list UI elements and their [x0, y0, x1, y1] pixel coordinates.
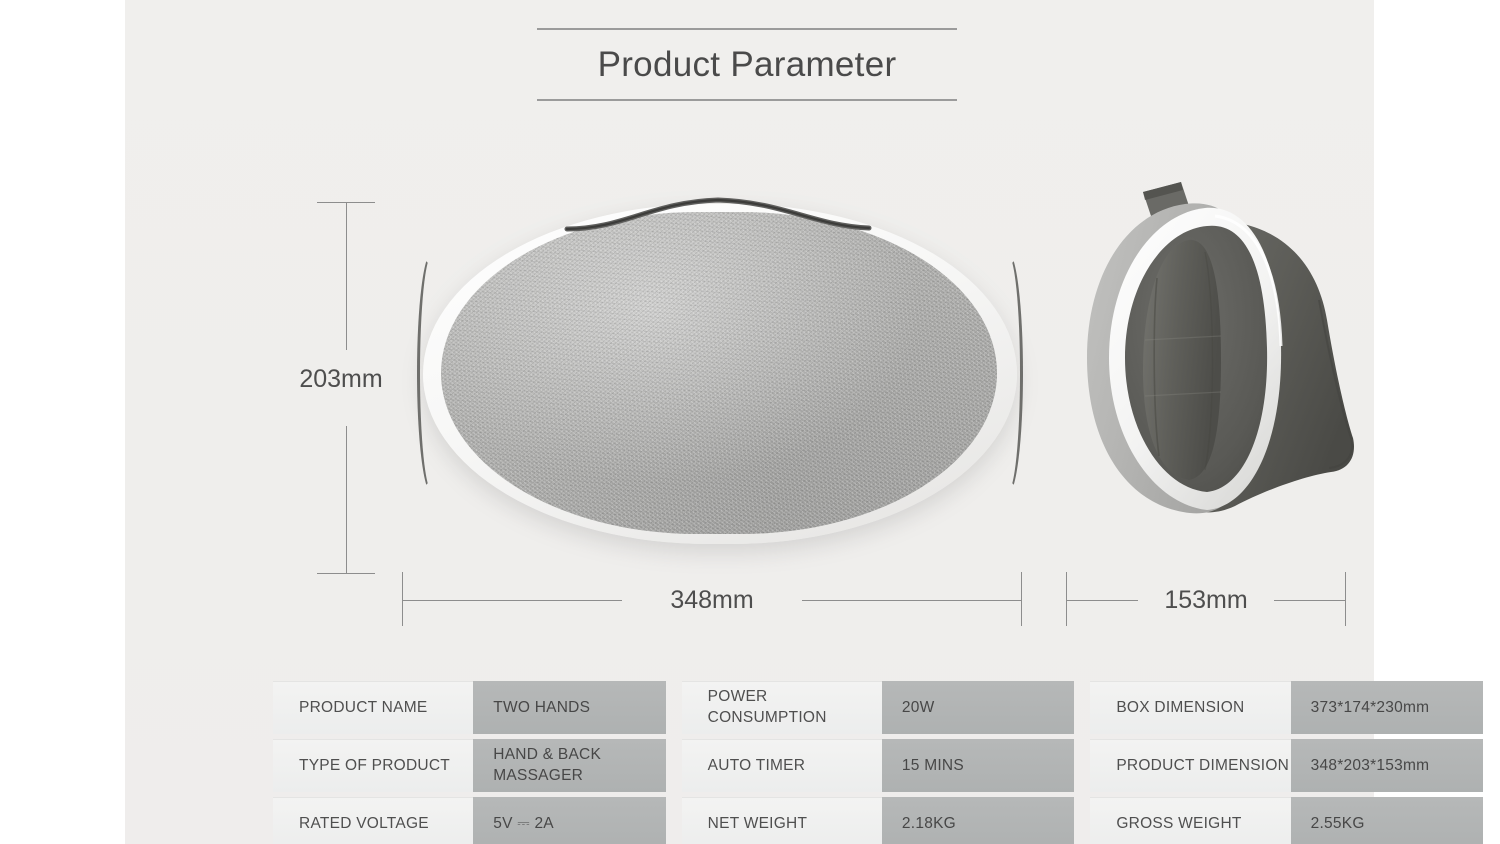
spec-value: 2.18KG [882, 797, 1074, 844]
dim-segment-lower [346, 426, 347, 574]
handle-strap-icon [563, 196, 873, 234]
handle-strap [563, 196, 873, 234]
spec-label: RATED VOLTAGE [273, 797, 473, 844]
title-rule-bottom [537, 99, 957, 101]
spec-value: 2.55KG [1291, 797, 1483, 844]
spec-group-2: POWER CONSUMPTION 20W AUTO TIMER 15 MINS… [682, 681, 1075, 844]
spec-label: GROSS WEIGHT [1090, 797, 1290, 844]
dim-cap-right [1345, 572, 1346, 626]
spec-value: 20W [882, 681, 1074, 734]
spec-label: AUTO TIMER [682, 739, 882, 792]
content-panel: Product Parameter [125, 0, 1374, 844]
dim-segment-upper [346, 202, 347, 350]
spec-value: 15 MINS [882, 739, 1074, 792]
side-view-illustration [1065, 170, 1365, 545]
dimension-width-348mm: 348mm [402, 572, 1022, 632]
dim-cap-right [1021, 572, 1022, 626]
table-row: NET WEIGHT 2.18KG [682, 797, 1075, 844]
page-title: Product Parameter [537, 30, 957, 99]
side-strap-right [993, 252, 1023, 494]
dimension-height-203mm: 203mm [295, 202, 385, 574]
spec-group-1: PRODUCT NAME TWO HANDS TYPE OF PRODUCT H… [273, 681, 666, 844]
front-view-oval-massager-bag [415, 196, 1025, 551]
title-block: Product Parameter [537, 28, 957, 101]
table-row: GROSS WEIGHT 2.55KG [1090, 797, 1483, 844]
spec-value: TWO HANDS [473, 681, 665, 734]
table-row: PRODUCT NAME TWO HANDS [273, 681, 666, 734]
table-row: TYPE OF PRODUCT HAND & BACK MASSAGER [273, 739, 666, 792]
gray-fabric-body [441, 212, 997, 534]
spec-label: TYPE OF PRODUCT [273, 739, 473, 792]
spec-value: 373*174*230mm [1291, 681, 1483, 734]
spec-label: NET WEIGHT [682, 797, 882, 844]
spec-label: PRODUCT DIMENSION [1090, 739, 1290, 792]
dim-cap-bottom [317, 573, 375, 574]
dim-segment-right [802, 600, 1022, 601]
side-view-massager-opening [1065, 170, 1365, 545]
spec-value: HAND & BACK MASSAGER [473, 739, 665, 792]
spec-table: PRODUCT NAME TWO HANDS TYPE OF PRODUCT H… [273, 681, 1483, 844]
spec-value: 348*203*153mm [1291, 739, 1483, 792]
table-row: PRODUCT DIMENSION 348*203*153mm [1090, 739, 1483, 792]
spec-value: 5V ⎓ 2A [473, 797, 665, 844]
dimension-label-height: 203mm [257, 365, 425, 394]
table-row: POWER CONSUMPTION 20W [682, 681, 1075, 734]
spec-label: BOX DIMENSION [1090, 681, 1290, 734]
table-row: AUTO TIMER 15 MINS [682, 739, 1075, 792]
table-row: BOX DIMENSION 373*174*230mm [1090, 681, 1483, 734]
dim-segment-right [1274, 600, 1346, 601]
spec-group-3: BOX DIMENSION 373*174*230mm PRODUCT DIME… [1090, 681, 1483, 844]
table-row: RATED VOLTAGE 5V ⎓ 2A [273, 797, 666, 844]
dimension-depth-153mm: 153mm [1066, 572, 1346, 632]
spec-label: POWER CONSUMPTION [682, 681, 882, 734]
spec-label: PRODUCT NAME [273, 681, 473, 734]
product-parameter-infographic: Product Parameter [0, 0, 1500, 844]
